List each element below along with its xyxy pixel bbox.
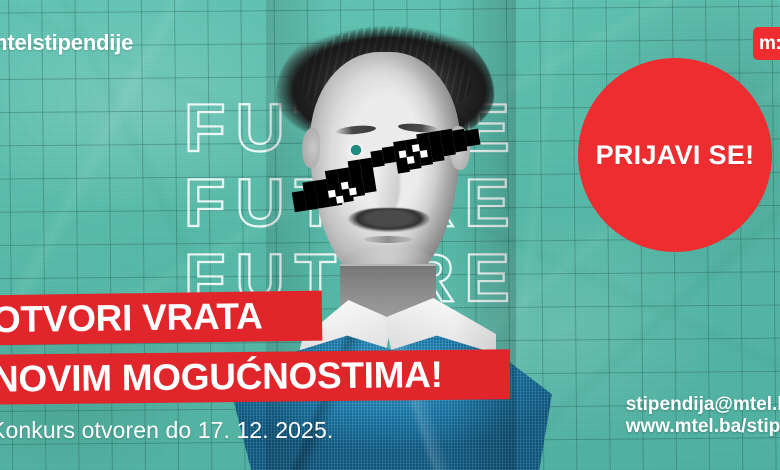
promo-banner: FUTURE FUTURE FUTURE [0,0,780,470]
deadline-text: Konkurs otvoren do 17. 12. 2025. [0,417,333,444]
campaign-hashtag: #mtelstipendije [0,30,133,56]
mtel-logo: m:tel [753,27,780,60]
mtel-logo-text: m:tel [759,33,780,55]
contact-email[interactable]: stipendija@mtel.b [626,394,780,416]
contact-website[interactable]: www.mtel.ba/stipend [626,416,780,438]
headline-band-2: NOVIM MOGUĆNOSTIMA! [0,349,510,405]
apply-now-button[interactable]: PRIJAVI SE! [578,58,772,252]
contact-info: stipendija@mtel.b www.mtel.ba/stipend [626,394,780,439]
headline-band-1: OTVORI VRATA [0,291,322,346]
apply-now-label: PRIJAVI SE! [596,140,755,171]
headline-line-1: OTVORI VRATA [0,295,263,341]
portrait-mouth [364,236,412,243]
headline-line-2: NOVIM MOGUĆNOSTIMA! [0,354,443,401]
